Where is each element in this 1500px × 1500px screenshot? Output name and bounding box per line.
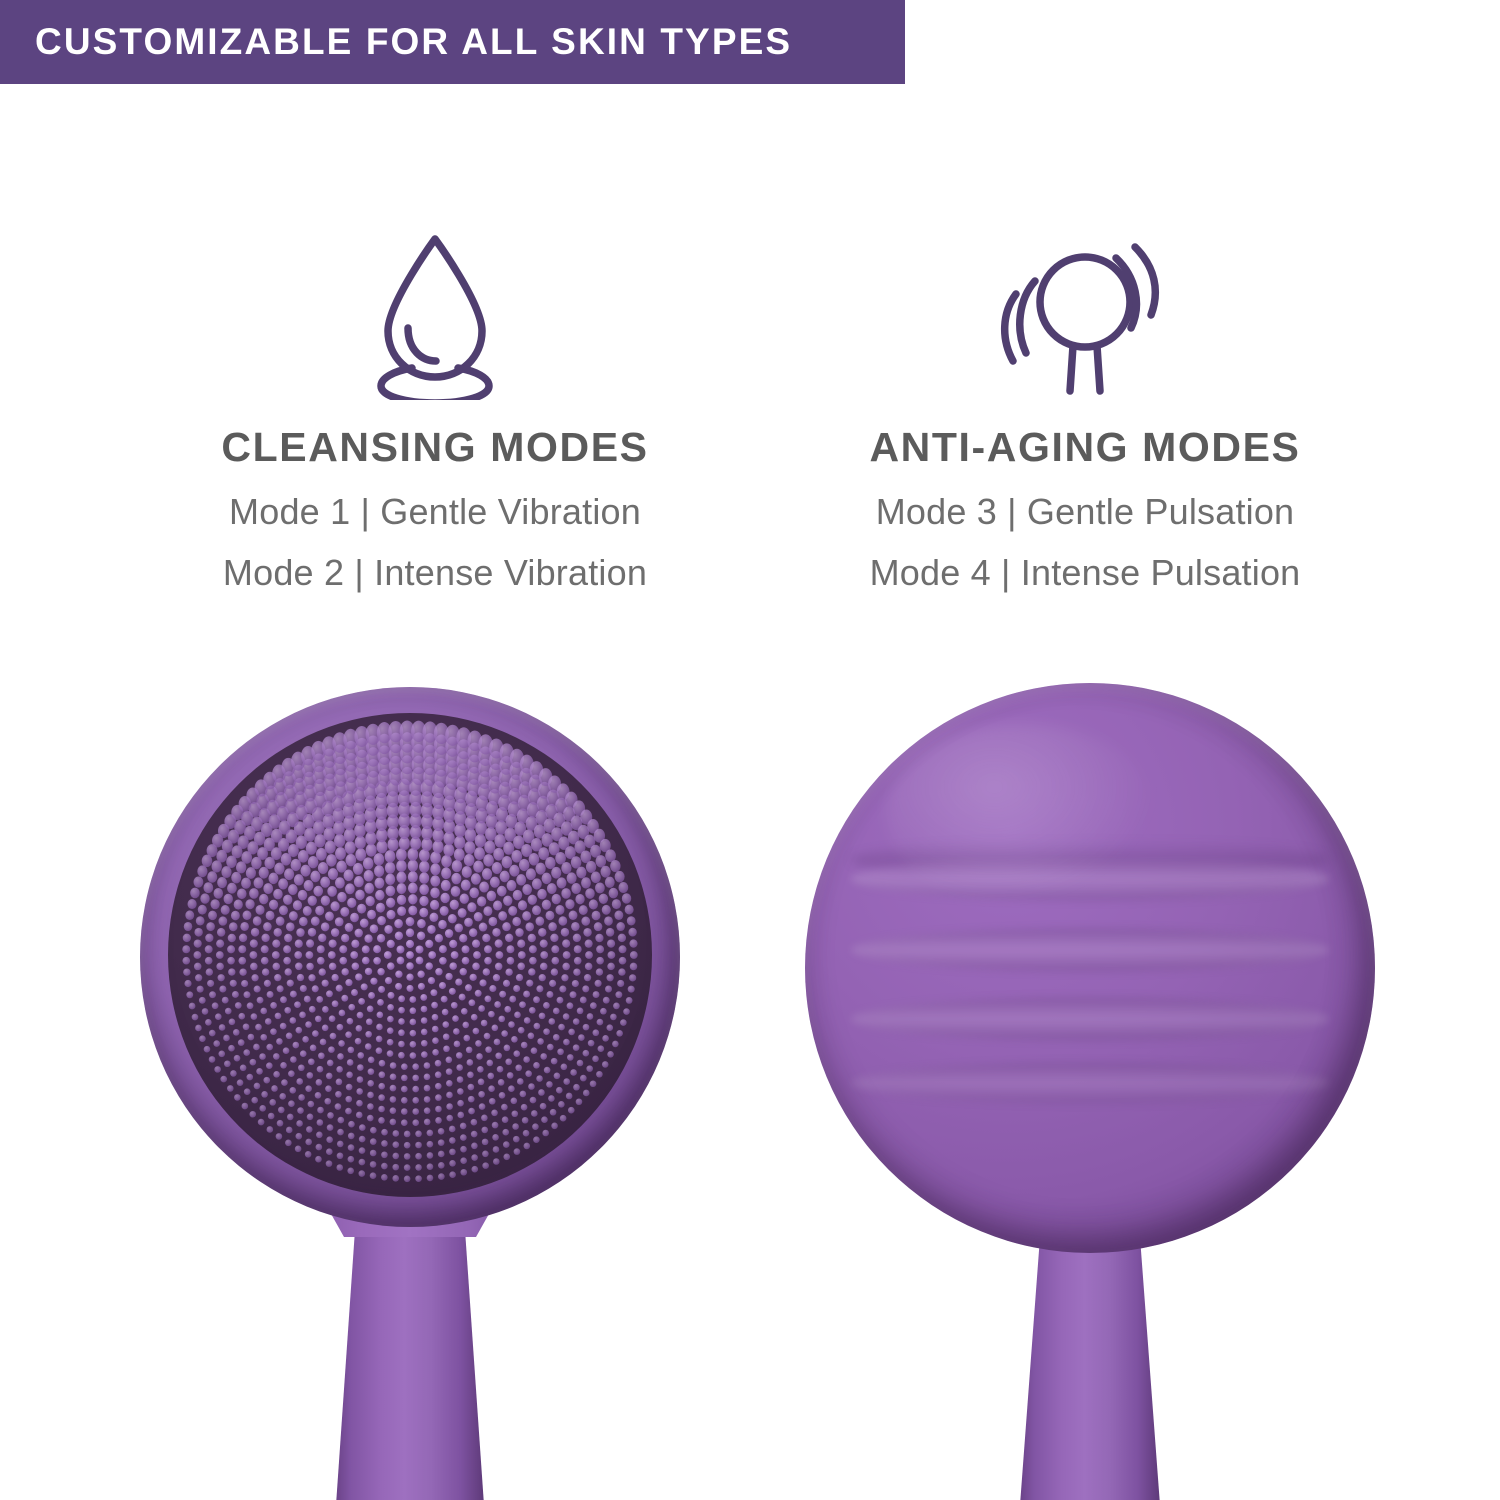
header-banner: CUSTOMIZABLE FOR ALL SKIN TYPES	[0, 0, 905, 84]
bristle-dots	[168, 713, 652, 1197]
feature-column-cleansing: CLEANSING MODES Mode 1 | Gentle Vibratio…	[135, 225, 735, 594]
mode-line-4: Mode 4 | Intense Pulsation	[785, 552, 1385, 594]
vibrating-brush-head-icon	[985, 225, 1185, 400]
cleansing-brush-head-photo	[100, 665, 720, 1500]
brush-handle-left	[336, 1205, 484, 1500]
anti-aging-massage-head-photo	[760, 665, 1420, 1500]
banner-title: CUSTOMIZABLE FOR ALL SKIN TYPES	[35, 0, 792, 84]
water-drop-icon	[370, 225, 500, 400]
feature-title-antiaging: ANTI-AGING MODES	[785, 424, 1385, 471]
feature-title-cleansing: CLEANSING MODES	[135, 424, 735, 471]
cleansing-brush-head-surface	[140, 687, 680, 1227]
water-drop-icon-wrap	[135, 225, 735, 400]
anti-aging-head-surface	[805, 683, 1375, 1253]
mode-line-2: Mode 2 | Intense Vibration	[135, 552, 735, 594]
infographic-page: CUSTOMIZABLE FOR ALL SKIN TYPES CLEANSIN…	[0, 0, 1500, 1500]
vibrating-brush-head-icon-wrap	[785, 225, 1385, 400]
mode-line-1: Mode 1 | Gentle Vibration	[135, 491, 735, 533]
mode-line-3: Mode 3 | Gentle Pulsation	[785, 491, 1385, 533]
silicone-bristle-field	[168, 713, 652, 1197]
feature-column-antiaging: ANTI-AGING MODES Mode 3 | Gentle Pulsati…	[785, 225, 1385, 594]
brush-head-rim-right	[805, 683, 1375, 1253]
